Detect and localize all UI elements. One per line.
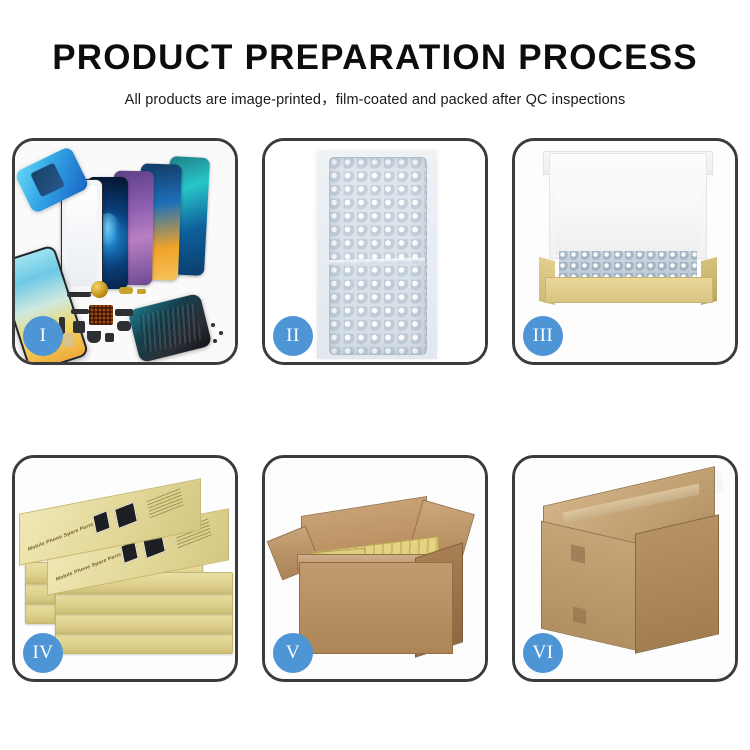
carton-seam-mark	[571, 544, 585, 563]
step-badge-3: III	[523, 316, 563, 356]
process-step-2: II	[262, 138, 488, 365]
screw-part	[211, 323, 215, 327]
box-label-image	[92, 510, 110, 534]
step-badge-6: VI	[523, 633, 563, 673]
page-header: PRODUCT PREPARATION PROCESS All products…	[0, 0, 750, 109]
chip-array-part	[89, 305, 113, 325]
carton-right-panel	[635, 514, 719, 653]
flex-cable-part	[67, 293, 91, 297]
mailer-inner-liner	[555, 193, 699, 255]
screw-part	[213, 339, 217, 343]
taptic-part	[87, 331, 101, 343]
carton-left-panel	[541, 521, 639, 652]
battery-connector-part	[63, 333, 73, 347]
mailer-front-panel	[545, 277, 713, 303]
carton-seam-mark	[573, 606, 586, 624]
process-step-4: Mobile Phone Spare Parts Mobile Phone Sp…	[12, 455, 238, 682]
process-step-3: III	[512, 138, 738, 365]
vibrator-part	[117, 321, 131, 331]
box-label-image	[114, 502, 138, 529]
page-subtitle: All products are image-printed，film-coat…	[0, 77, 750, 109]
process-step-1: I	[12, 138, 238, 365]
ribbon-part	[71, 309, 89, 314]
button-flex-part	[119, 287, 133, 294]
step-badge-1: I	[23, 316, 63, 356]
camera-module-part	[73, 321, 85, 333]
box-label-text: Mobile Phone Spare Parts	[27, 522, 93, 553]
sim-tray-part	[105, 333, 114, 342]
box-label-speclines	[146, 486, 183, 518]
stacked-box	[55, 612, 233, 634]
carton-front-panel	[299, 562, 453, 654]
process-step-6: VI	[512, 455, 738, 682]
bubble-wrapped-contents	[559, 251, 697, 279]
page-title: PRODUCT PREPARATION PROCESS	[0, 0, 750, 77]
stacked-box	[55, 632, 233, 654]
connector-part	[137, 289, 146, 294]
step-badge-5: V	[273, 633, 313, 673]
screw-part	[219, 331, 223, 335]
step-badge-2: II	[273, 316, 313, 356]
stacked-box	[55, 592, 233, 614]
process-step-5: V	[262, 455, 488, 682]
speaker-part	[91, 281, 108, 298]
bubble-wrap-pouch	[329, 157, 427, 355]
step-badge-4: IV	[23, 633, 63, 673]
bracket-part	[115, 309, 133, 316]
process-step-grid: I II III	[12, 138, 738, 682]
